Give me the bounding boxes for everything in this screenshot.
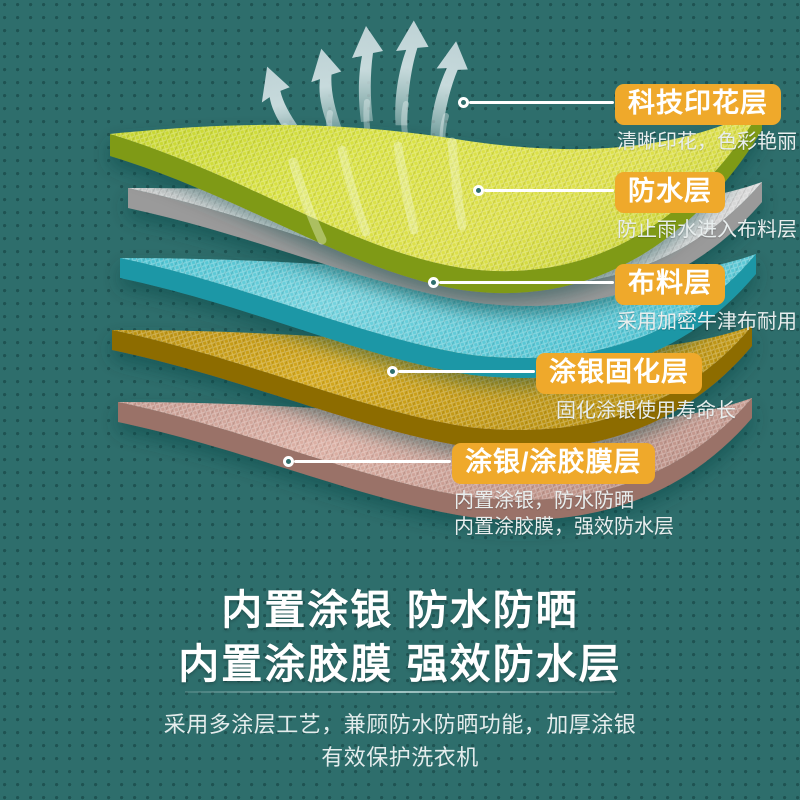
callout-line-silver-film [294, 460, 451, 463]
badge-print-layer[interactable]: 科技印花层 [615, 84, 781, 125]
headline-line-2: 内置涂胶膜 强效防水层 [0, 637, 800, 691]
callout-line-print [469, 101, 614, 104]
subtitle-silver-film-layer-1: 内置涂银，防水防晒 [454, 489, 634, 515]
callout-line-waterproof [484, 189, 614, 192]
description-line-2: 有效保护洗衣机 [0, 742, 800, 775]
subtitle-print-layer: 清晰印花，色彩艳丽 [617, 130, 797, 156]
callout-line-silver-cured [398, 370, 535, 373]
description-block: 采用多涂层工艺，兼顾防水防晒功能，加厚涂银 有效保护洗衣机 [0, 709, 800, 774]
callout-dot-waterproof [473, 185, 484, 196]
callout-dot-print [458, 97, 469, 108]
headline-divider [185, 691, 615, 693]
badge-fabric-layer[interactable]: 布料层 [615, 264, 725, 305]
headline-block: 内置涂银 防水防晒 内置涂胶膜 强效防水层 [0, 583, 800, 691]
product-feature-poster: 科技印花层 清晰印花，色彩艳丽 防水层 防止雨水进入布料层 布料层 采用加密牛津… [0, 0, 800, 800]
subtitle-waterproof-layer: 防止雨水进入布料层 [617, 218, 797, 244]
callout-line-fabric [439, 281, 614, 284]
description-line-1: 采用多涂层工艺，兼顾防水防晒功能，加厚涂银 [0, 709, 800, 742]
subtitle-silver-film-layer-2: 内置涂胶膜，强效防水层 [454, 515, 674, 541]
headline-line-1: 内置涂银 防水防晒 [0, 583, 800, 637]
callout-dot-fabric [428, 277, 439, 288]
badge-silver-film-layer[interactable]: 涂银/涂胶膜层 [452, 443, 655, 484]
callout-dot-silver-film [283, 456, 294, 467]
subtitle-silver-cured-layer: 固化涂银使用寿命长 [556, 399, 736, 425]
badge-silver-cured-layer[interactable]: 涂银固化层 [536, 353, 702, 394]
badge-waterproof-layer[interactable]: 防水层 [615, 172, 725, 213]
callout-dot-silver-cured [387, 366, 398, 377]
subtitle-fabric-layer: 采用加密牛津布耐用 [617, 310, 797, 336]
